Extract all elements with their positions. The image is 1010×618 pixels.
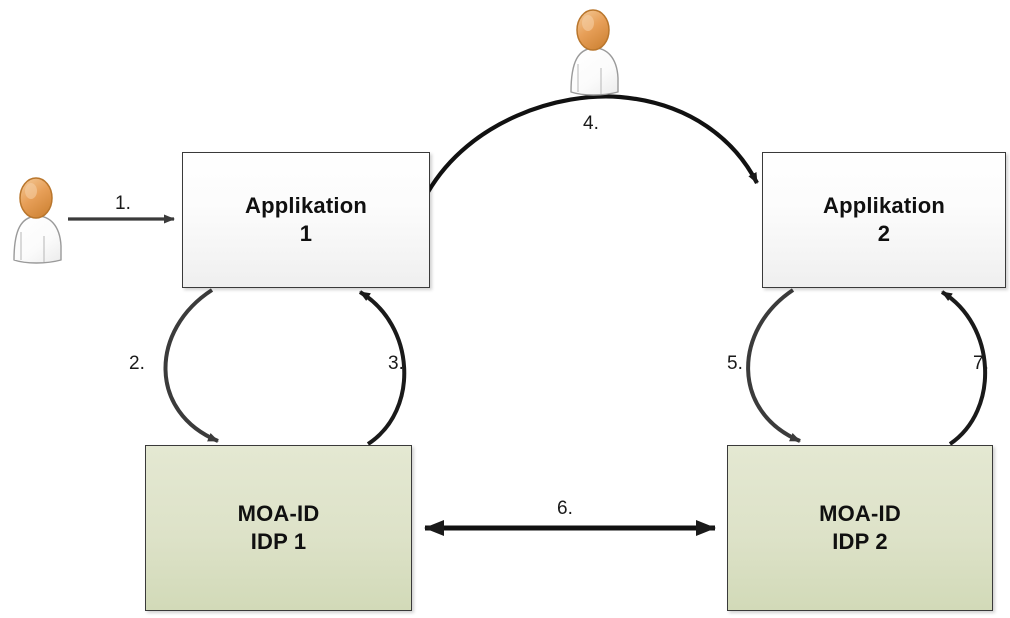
step-label-5: 5. (727, 353, 743, 375)
node-applikation-1-line1: Applikation (245, 192, 367, 220)
step-label-6: 6. (557, 498, 573, 520)
step-label-7: 7. (973, 353, 989, 375)
node-moa-id-idp-1-line2: IDP 1 (251, 528, 307, 556)
node-applikation-2[interactable]: Applikation 2 (762, 152, 1006, 288)
step-label-2: 2. (129, 353, 145, 375)
actor-left-icon (14, 178, 61, 263)
diagram-canvas: Applikation 1 Applikation 2 MOA-ID IDP 1… (0, 0, 1010, 618)
step-label-3: 3. (388, 353, 404, 375)
node-applikation-2-line1: Applikation (823, 192, 945, 220)
node-moa-id-idp-1-line1: MOA-ID (238, 500, 320, 528)
node-moa-id-idp-2[interactable]: MOA-ID IDP 2 (727, 445, 993, 611)
actor-top-icon (571, 10, 618, 95)
step-label-4: 4. (583, 113, 599, 135)
connector-step-5 (748, 290, 800, 441)
node-moa-id-idp-2-line2: IDP 2 (832, 528, 888, 556)
connector-step-2 (165, 290, 218, 441)
node-applikation-1-line2: 1 (300, 220, 312, 248)
step-label-1: 1. (115, 193, 131, 215)
node-applikation-2-line2: 2 (878, 220, 890, 248)
connector-step-4 (428, 96, 757, 192)
node-moa-id-idp-2-line1: MOA-ID (819, 500, 901, 528)
node-applikation-1[interactable]: Applikation 1 (182, 152, 430, 288)
node-moa-id-idp-1[interactable]: MOA-ID IDP 1 (145, 445, 412, 611)
